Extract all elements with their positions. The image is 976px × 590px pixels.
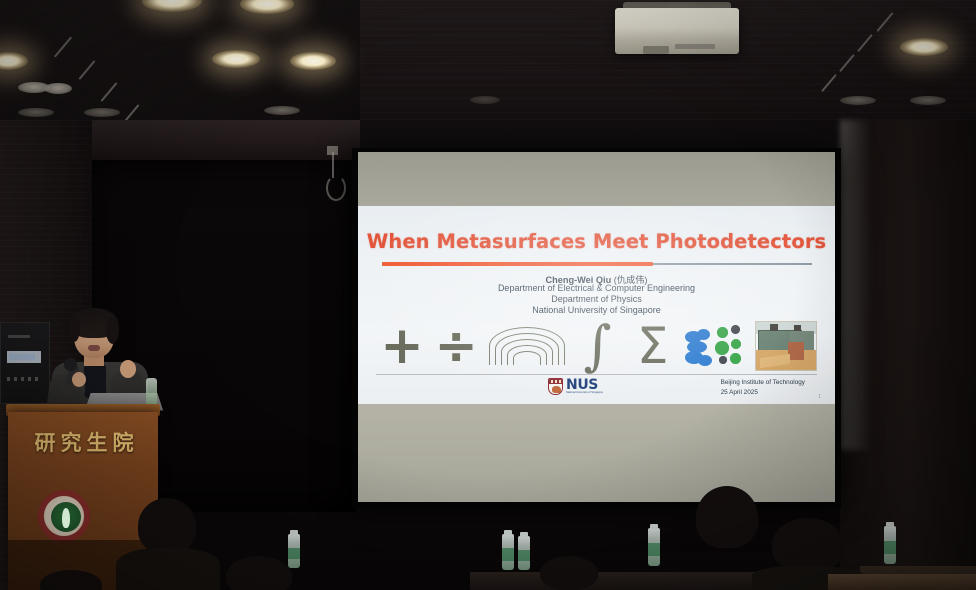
water-bottle: [884, 526, 896, 564]
nus-crest-icon: [548, 378, 563, 395]
monitor-top-text: [8, 335, 30, 338]
audience-head: [772, 518, 844, 572]
bottle-label: [288, 548, 300, 560]
bottle-label: [502, 548, 514, 561]
ceiling-light-dim: [84, 108, 120, 117]
monitor-taskbar: [7, 377, 41, 381]
presentation-slide: When Metasurfaces Meet Photodetectors Ch…: [358, 206, 835, 404]
rainbow-arc-icon: [484, 323, 570, 369]
water-bottle: [648, 528, 660, 566]
hanging-cable: [332, 152, 334, 178]
gear-shape: [715, 341, 729, 355]
projector-body: [615, 8, 739, 54]
photo-monitor: [770, 324, 778, 331]
ceiling-light-dim: [44, 83, 72, 94]
confidence-monitor: [0, 322, 50, 404]
bottle-label: [648, 543, 660, 556]
ceiling-light-dim: [18, 108, 54, 117]
curtain-valance: [70, 120, 360, 164]
nus-logo: NUS National University of Singapore: [548, 378, 603, 395]
water-bottle: [288, 534, 300, 568]
speaker-hair-side-right: [106, 316, 119, 344]
integral-icon: ∫: [574, 323, 620, 369]
bottle-label: [884, 541, 896, 554]
gear-shape: [719, 356, 727, 364]
monitor-window-inner: [9, 354, 35, 360]
ceiling-light: [900, 38, 948, 56]
audience-shoulders: [116, 548, 220, 590]
audience-area: 论坛: [0, 470, 976, 590]
photo-podium: [788, 342, 804, 360]
brain-shape: [685, 329, 715, 367]
podium-sign: 研 究 生 院: [16, 424, 152, 460]
podium-sign-char-1: 研: [35, 427, 56, 457]
gear-shape: [731, 339, 741, 349]
emblem-leaf: [62, 508, 70, 528]
affiliation-line-2: Department of Physics: [358, 294, 835, 304]
ceiling-light-dim: [264, 106, 300, 115]
hanging-cable-loop: [326, 175, 346, 201]
podium-sign-char-4: 院: [113, 427, 134, 457]
nus-wordmark: NUS: [566, 378, 603, 392]
photo-monitor-2: [794, 325, 801, 331]
podium-water-bottle: [146, 378, 157, 406]
speaker-hand-right: [120, 360, 136, 378]
ceiling-light-dim: [910, 96, 946, 105]
bottle-cap: [520, 532, 528, 537]
title-rule-orange: [382, 262, 653, 266]
nus-crest-bar: [549, 379, 562, 384]
ceiling-light: [290, 52, 336, 70]
podium-sign-char-2: 究: [61, 427, 82, 457]
right-wall-highlight: [840, 120, 870, 450]
ceiling-light-dim: [840, 96, 876, 105]
microphone-head: [64, 358, 77, 371]
projector-label: [675, 44, 715, 49]
ceiling-light-dim: [470, 96, 500, 104]
ceiling-light: [212, 50, 260, 68]
speaker-hand-left: [72, 372, 86, 387]
audience-head: [540, 556, 598, 590]
plus-icon: +: [376, 323, 428, 369]
audience-head: [138, 498, 196, 554]
bottle-label: [518, 550, 530, 562]
venue-name: Beijing Institute of Technology: [721, 378, 805, 388]
audience-head: [226, 556, 292, 590]
slide-title: When Metasurfaces Meet Photodetectors: [358, 230, 835, 253]
gear-shape: [717, 327, 728, 338]
speaker-mouth: [88, 345, 100, 351]
divide-icon: ÷: [432, 323, 480, 369]
screen-band-top: [358, 152, 835, 207]
nus-lion: [552, 386, 561, 393]
bottle-cap: [504, 530, 512, 535]
audience-head: [696, 486, 758, 548]
arc-band: [513, 351, 541, 365]
nus-subtitle: National University of Singapore: [566, 392, 603, 395]
water-bottle: [518, 536, 530, 570]
audience-table-front: [828, 574, 976, 590]
brain-gears-icon: [685, 323, 751, 369]
bottle-cap: [290, 530, 298, 535]
venue-date: 25 April 2025: [721, 388, 805, 398]
bottle-cap: [650, 524, 658, 529]
slide-footer-rule: [376, 374, 817, 375]
nus-wordmark-group: NUS National University of Singapore: [566, 378, 603, 395]
affiliation-line-1: Department of Electrical & Computer Engi…: [358, 283, 835, 293]
bottle-cap: [886, 522, 894, 527]
podium-sign-char-3: 生: [87, 427, 108, 457]
slide-venue-block: Beijing Institute of Technology 25 April…: [721, 378, 805, 397]
slide-number: 1: [818, 394, 821, 400]
ceiling-projector: [607, 2, 747, 60]
audience-head: [40, 570, 102, 590]
nus-shield: [548, 378, 563, 395]
projector-lens: [643, 46, 669, 54]
gear-shape: [731, 325, 740, 334]
brain-lobe: [697, 329, 710, 340]
classroom-photo-icon: [755, 321, 817, 371]
gear-shape: [730, 353, 741, 364]
lecture-hall-photo: When Metasurfaces Meet Photodetectors Ch…: [0, 0, 976, 590]
sigma-icon: Σ: [625, 323, 681, 369]
water-bottle: [502, 534, 514, 570]
slide-icon-row: + ÷ ∫ Σ: [370, 320, 823, 372]
speaker-hair-side-left: [68, 316, 80, 342]
brain-lobe: [698, 355, 712, 366]
